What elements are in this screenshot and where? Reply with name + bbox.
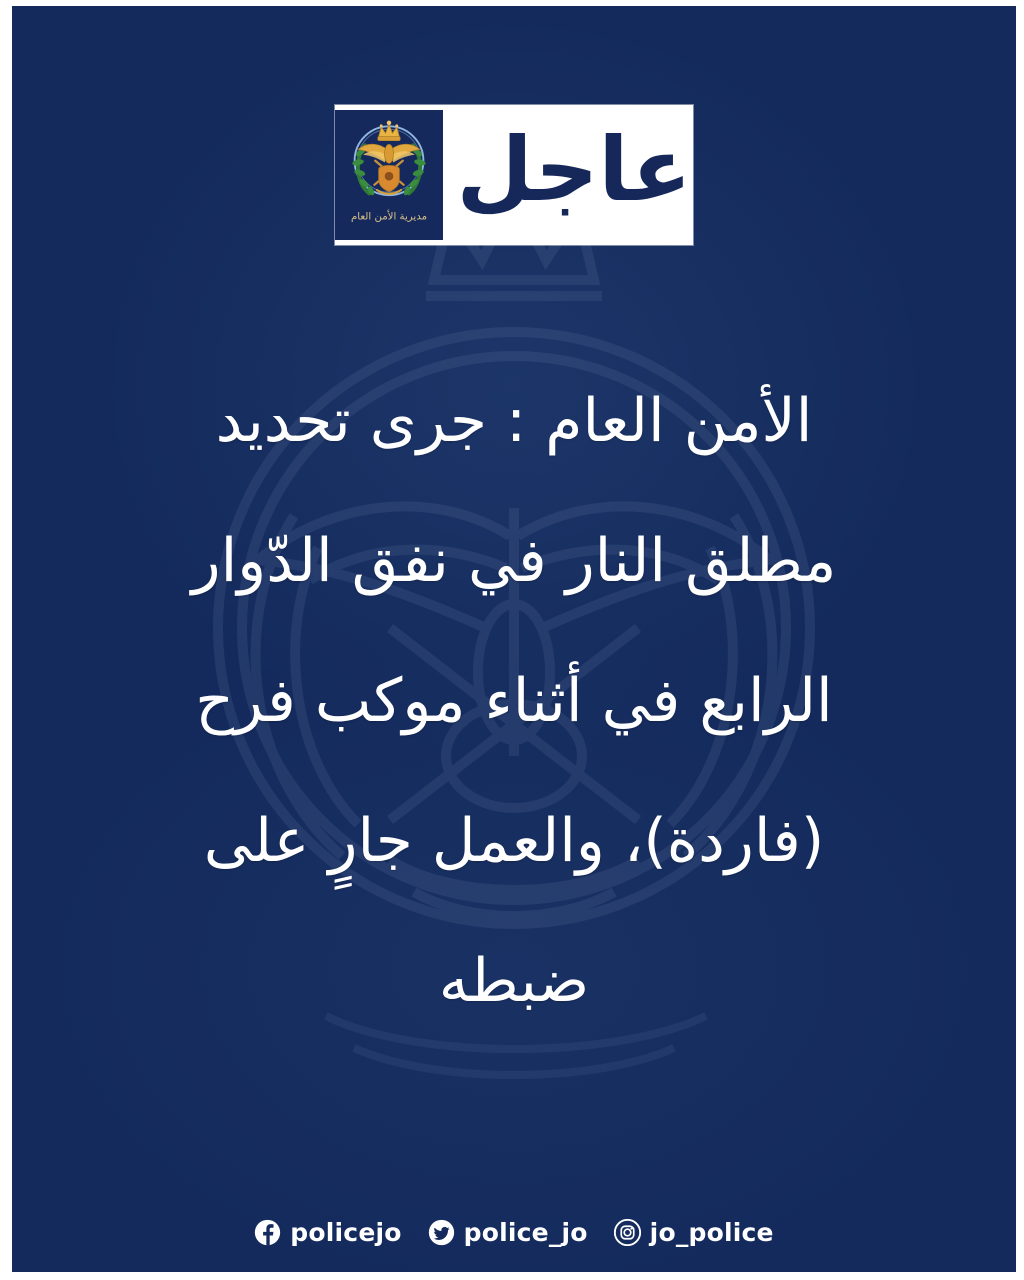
emblem-caption-text: مديرية الأمن العام: [351, 210, 427, 223]
facebook-icon[interactable]: [254, 1219, 281, 1246]
urgent-banner: عاجل: [335, 105, 693, 245]
facebook-handle[interactable]: policejo: [290, 1220, 401, 1245]
headline-line-2: مطلق النار في نفق الدّوار: [52, 491, 976, 631]
emblem-caption: مديرية الأمن العام: [342, 204, 436, 226]
instagram-handle[interactable]: jo_police: [650, 1220, 774, 1245]
instagram-icon[interactable]: [614, 1219, 641, 1246]
poster-canvas: عاجل: [12, 6, 1016, 1272]
headline-line-3: الرابع في أثناء موكب فرح: [52, 631, 976, 771]
social-item-facebook[interactable]: policejo: [254, 1219, 401, 1246]
twitter-icon[interactable]: [428, 1219, 455, 1246]
emblem-badge: مديرية الأمن العام: [335, 110, 443, 240]
social-bar: policejo police_jo jo_police: [12, 1219, 1016, 1246]
social-item-twitter[interactable]: police_jo: [428, 1219, 588, 1246]
poster-root: عاجل: [0, 0, 1024, 1280]
headline-line-4: (فاردة)، والعمل جارٍ على: [52, 771, 976, 911]
urgent-label: عاجل: [449, 105, 693, 245]
headline-line-5: ضبطه: [52, 911, 976, 1051]
psd-crest-icon: [346, 116, 432, 202]
twitter-handle[interactable]: police_jo: [464, 1220, 588, 1245]
headline-block: الأمن العام : جرى تحديد مطلق النار في نف…: [12, 351, 1016, 1051]
headline-line-1: الأمن العام : جرى تحديد: [52, 351, 976, 491]
social-item-instagram[interactable]: jo_police: [614, 1219, 774, 1246]
